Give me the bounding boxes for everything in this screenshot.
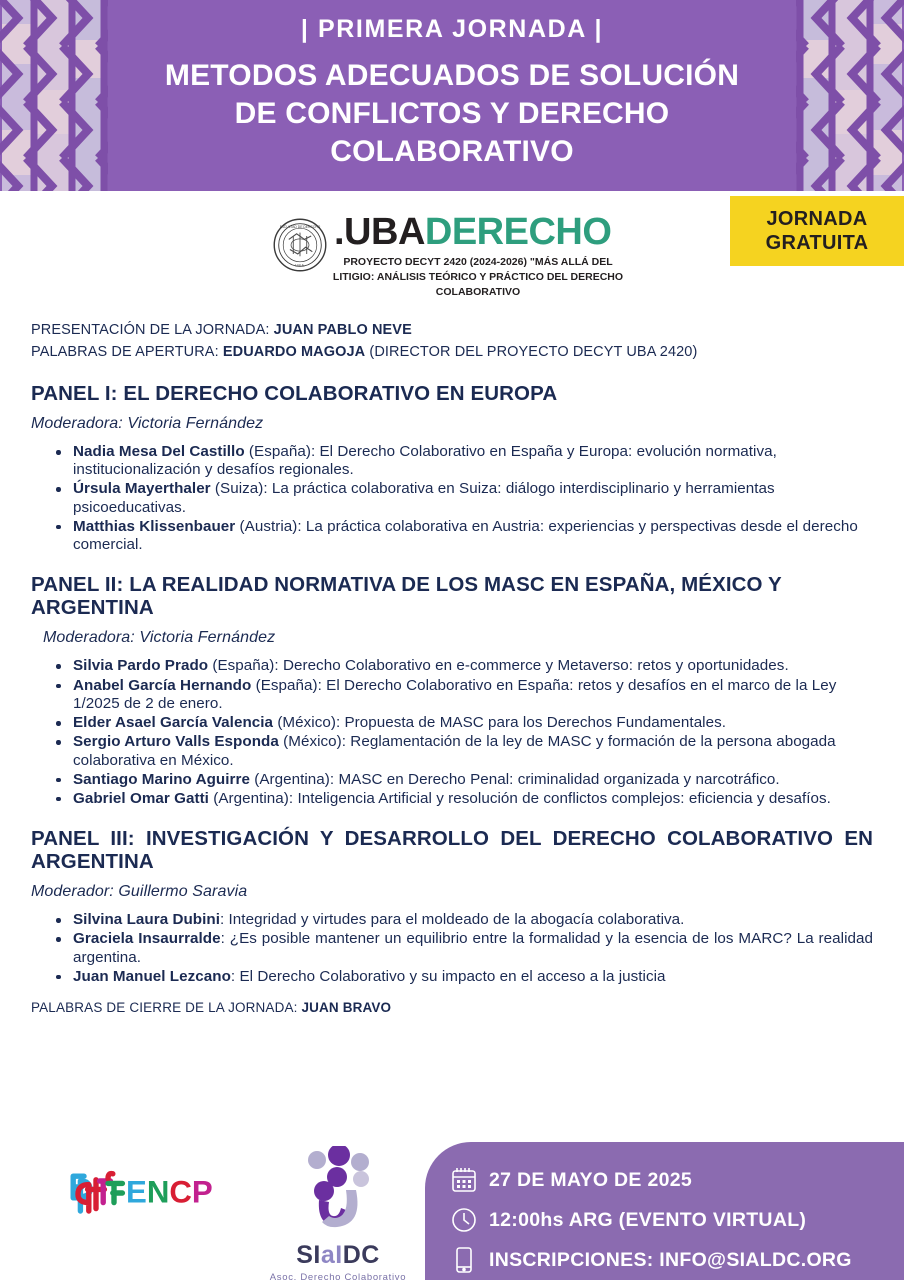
opening-words-line: PALABRAS DE APERTURA: EDUARDO MAGOJA (DI… bbox=[31, 341, 873, 363]
closing-label: PALABRAS DE CIERRE DE LA JORNADA: bbox=[31, 1000, 298, 1015]
panel-1-heading: PANEL I: EL DERECHO COLABORATIVO EN EURO… bbox=[31, 383, 873, 406]
uba-project-subtitle: PROYECTO DECYT 2420 (2024-2026) "MÁS ALL… bbox=[328, 255, 628, 300]
encp-logo: ENCP bbox=[60, 1162, 240, 1224]
poster-footer: ENCP SIaIDC Asoc. Derecho Colaborativo bbox=[0, 1130, 904, 1280]
event-registration: INSCRIPCIONES: INFO@SIALDC.ORG bbox=[489, 1249, 852, 1272]
speaker-name: Matthias Klissenbauer bbox=[73, 518, 235, 535]
svg-text:FACULTAD DE DERECHO: FACULTAD DE DERECHO bbox=[280, 225, 321, 229]
jornada-gratuita-badge: JORNADA GRATUITA bbox=[730, 196, 904, 266]
list-item: Gabriel Omar Gatti (Argentina): Intelige… bbox=[56, 790, 873, 808]
panel-3-speaker-list: Silvina Laura Dubini: Integridad y virtu… bbox=[31, 911, 873, 986]
clock-icon bbox=[447, 1206, 481, 1234]
presentation-label: PRESENTACIÓN DE LA JORNADA: bbox=[31, 322, 270, 338]
presentation-name: JUAN PABLO NEVE bbox=[274, 322, 412, 338]
panel-3-heading: PANEL III: INVESTIGACIÓN Y DESARROLLO DE… bbox=[31, 828, 873, 874]
speaker-name: Silvina Laura Dubini bbox=[73, 911, 220, 928]
uba-derecho-logo: FACULTAD DE DERECHO U.B.A. .UBADERECHO P… bbox=[272, 213, 628, 300]
sialdc-wordmark: SIaIDC bbox=[262, 1241, 414, 1270]
speaker-name: Silvia Pardo Prado bbox=[73, 657, 208, 674]
badge-line-2: GRATUITA bbox=[766, 231, 869, 255]
uba-seal-icon: FACULTAD DE DERECHO U.B.A. bbox=[272, 217, 328, 273]
list-item: Matthias Klissenbauer (Austria): La prác… bbox=[56, 518, 873, 554]
speaker-detail: (Argentina): Inteligencia Artificial y r… bbox=[209, 790, 831, 807]
sialdc-logo: SIaIDC Asoc. Derecho Colaborativo bbox=[262, 1146, 414, 1276]
phone-icon bbox=[447, 1246, 481, 1274]
speaker-name: Santiago Marino Aguirre bbox=[73, 771, 250, 788]
title-line-3: COLABORATIVO bbox=[130, 133, 774, 171]
list-item: Sergio Arturo Valls Esponda (México): Re… bbox=[56, 733, 873, 769]
poster-kicker: | PRIMERA JORNADA | bbox=[130, 14, 774, 45]
header-text-block: | PRIMERA JORNADA | METODOS ADECUADOS DE… bbox=[130, 14, 774, 172]
speaker-name: Gabriel Omar Gatti bbox=[73, 790, 209, 807]
speaker-name: Sergio Arturo Valls Esponda bbox=[73, 733, 279, 750]
list-item: Anabel García Hernando (España): El Dere… bbox=[56, 677, 873, 713]
sialdc-name-2: a bbox=[321, 1241, 335, 1269]
svg-text:ENCP: ENCP bbox=[126, 1175, 213, 1210]
opening-name: EDUARDO MAGOJA bbox=[223, 344, 365, 360]
panel-2-speaker-list: Silvia Pardo Prado (España): Derecho Col… bbox=[31, 657, 873, 808]
event-registration-row: INSCRIPCIONES: INFO@SIALDC.ORG bbox=[447, 1240, 904, 1280]
speaker-detail: (México): Propuesta de MASC para los Der… bbox=[273, 714, 726, 731]
event-date-row: 27 DE MAYO DE 2025 bbox=[447, 1160, 904, 1200]
sialdc-mark-icon bbox=[293, 1146, 383, 1234]
chevron-pattern-left bbox=[0, 0, 124, 191]
list-item: Graciela Insaurralde: ¿Es posible manten… bbox=[56, 930, 873, 966]
title-line-1: METODOS ADECUADOS DE SOLUCIÓN bbox=[130, 57, 774, 95]
chevron-right-icon bbox=[780, 0, 904, 191]
event-time-row: 12:00hs ARG (EVENTO VIRTUAL) bbox=[447, 1200, 904, 1240]
closing-name: JUAN BRAVO bbox=[301, 1000, 391, 1015]
sialdc-tagline: Asoc. Derecho Colaborativo bbox=[262, 1272, 414, 1283]
speaker-detail: (Argentina): MASC en Derecho Penal: crim… bbox=[250, 771, 780, 788]
chevron-left-icon bbox=[0, 0, 124, 191]
badge-line-1: JORNADA bbox=[767, 207, 868, 231]
panel-2-heading: PANEL II: LA REALIDAD NORMATIVA DE LOS M… bbox=[31, 574, 873, 620]
logo-row: FACULTAD DE DERECHO U.B.A. .UBADERECHO P… bbox=[0, 191, 904, 319]
event-time: 12:00hs ARG (EVENTO VIRTUAL) bbox=[489, 1209, 806, 1232]
event-poster: | PRIMERA JORNADA | METODOS ADECUADOS DE… bbox=[0, 0, 904, 1280]
opening-label: PALABRAS DE APERTURA: bbox=[31, 344, 219, 360]
panel-3-moderator: Moderador: Guillermo Saravia bbox=[31, 883, 873, 901]
list-item: Nadia Mesa Del Castillo (España): El Der… bbox=[56, 443, 873, 479]
list-item: Silvia Pardo Prado (España): Derecho Col… bbox=[56, 657, 873, 675]
event-details-panel: 27 DE MAYO DE 2025 12:00hs ARG (EVENTO V… bbox=[425, 1142, 904, 1280]
list-item: Juan Manuel Lezcano: El Derecho Colabora… bbox=[56, 968, 873, 986]
svg-text:U.B.A.: U.B.A. bbox=[295, 263, 305, 267]
uba-word-suffix: DERECHO bbox=[425, 211, 612, 253]
closing-words-line: PALABRAS DE CIERRE DE LA JORNADA: JUAN B… bbox=[31, 1000, 873, 1015]
presentation-line: PRESENTACIÓN DE LA JORNADA: JUAN PABLO N… bbox=[31, 319, 873, 341]
uba-wordmark: .UBADERECHO bbox=[334, 213, 628, 251]
speaker-name: Graciela Insaurralde bbox=[73, 930, 221, 947]
poster-body: PRESENTACIÓN DE LA JORNADA: JUAN PABLO N… bbox=[0, 319, 904, 1015]
speaker-detail: : El Derecho Colaborativo y su impacto e… bbox=[231, 968, 666, 985]
speaker-name: Elder Asael García Valencia bbox=[73, 714, 273, 731]
sialdc-name-1: SI bbox=[296, 1241, 321, 1269]
list-item: Santiago Marino Aguirre (Argentina): MAS… bbox=[56, 771, 873, 789]
panel-2-moderator: Moderadora: Victoria Fernández bbox=[31, 629, 873, 647]
chevron-pattern-right bbox=[780, 0, 904, 191]
poster-title: METODOS ADECUADOS DE SOLUCIÓN DE CONFLIC… bbox=[130, 57, 774, 171]
sialdc-name-3: I bbox=[335, 1241, 342, 1269]
speaker-name: Juan Manuel Lezcano bbox=[73, 968, 231, 985]
list-item: Úrsula Mayerthaler (Suiza): La práctica … bbox=[56, 480, 873, 516]
speaker-name: Úrsula Mayerthaler bbox=[73, 480, 211, 497]
calendar-icon bbox=[447, 1166, 481, 1194]
event-date: 27 DE MAYO DE 2025 bbox=[489, 1169, 692, 1192]
title-line-2: DE CONFLICTOS Y DERECHO bbox=[130, 95, 774, 133]
poster-header: | PRIMERA JORNADA | METODOS ADECUADOS DE… bbox=[0, 0, 904, 191]
speaker-detail: : Integridad y virtudes para el moldeado… bbox=[220, 911, 684, 928]
list-item: Elder Asael García Valencia (México): Pr… bbox=[56, 714, 873, 732]
sialdc-name-4: DC bbox=[343, 1241, 380, 1269]
list-item: Silvina Laura Dubini: Integridad y virtu… bbox=[56, 911, 873, 929]
speaker-name: Nadia Mesa Del Castillo bbox=[73, 443, 245, 460]
panel-1-moderator: Moderadora: Victoria Fernández bbox=[31, 415, 873, 433]
uba-word-prefix: .UBA bbox=[334, 211, 425, 253]
panel-1-speaker-list: Nadia Mesa Del Castillo (España): El Der… bbox=[31, 443, 873, 554]
opening-note: (DIRECTOR DEL PROYECTO DECYT UBA 2420) bbox=[369, 344, 697, 360]
speaker-name: Anabel García Hernando bbox=[73, 677, 251, 694]
speaker-detail: (España): Derecho Colaborativo en e-comm… bbox=[208, 657, 789, 674]
